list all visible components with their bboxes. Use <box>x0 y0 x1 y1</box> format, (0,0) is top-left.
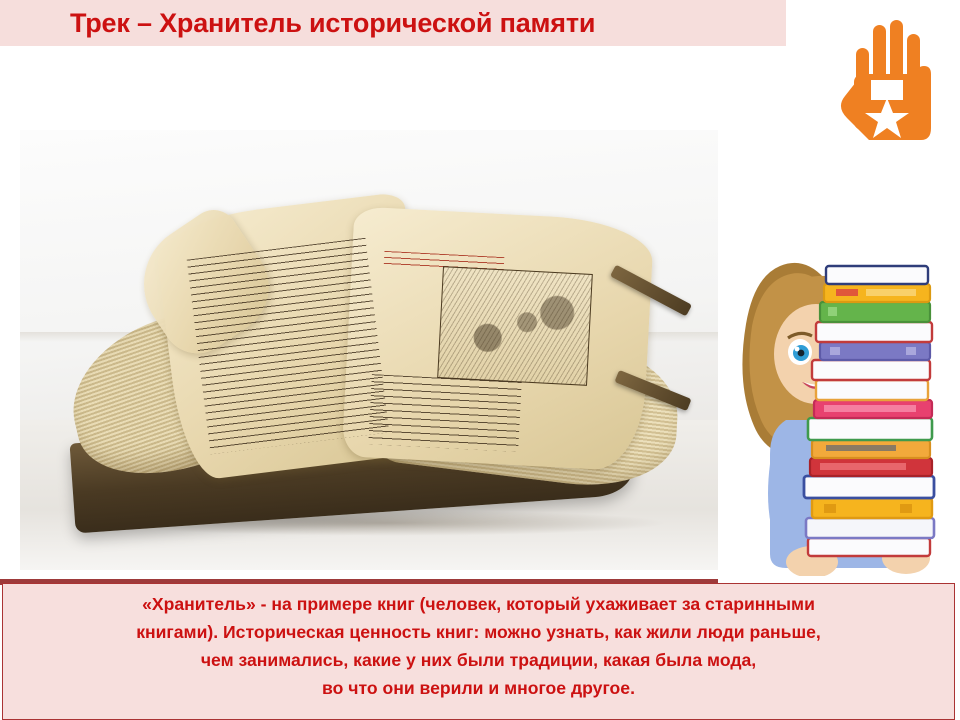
caption-line-2: книгами). Историческая ценность книг: мо… <box>3 618 954 646</box>
caption-line-1: «Хранитель» - на примере книг (человек, … <box>3 590 954 618</box>
old-manuscript-book-photo <box>20 130 718 570</box>
page-title: Трек – Хранитель исторической памяти <box>70 3 770 43</box>
handwritten-text-left-page <box>187 238 390 454</box>
caption-line-4: во что они верили и многое другое. <box>3 674 954 702</box>
orange-hand-logo <box>828 8 946 140</box>
girl-with-book-stack <box>728 214 960 576</box>
slide-canvas: Трек – Хранитель исторической памяти <box>0 0 960 720</box>
caption-text: «Хранитель» - на примере книг (человек, … <box>3 590 954 702</box>
woodcut-illustration <box>437 266 593 386</box>
open-book <box>48 188 688 558</box>
caption-box: «Хранитель» - на примере книг (человек, … <box>2 583 955 720</box>
handwritten-text-right-page <box>368 374 521 452</box>
caption-line-3: чем занимались, какие у них были традици… <box>3 646 954 674</box>
